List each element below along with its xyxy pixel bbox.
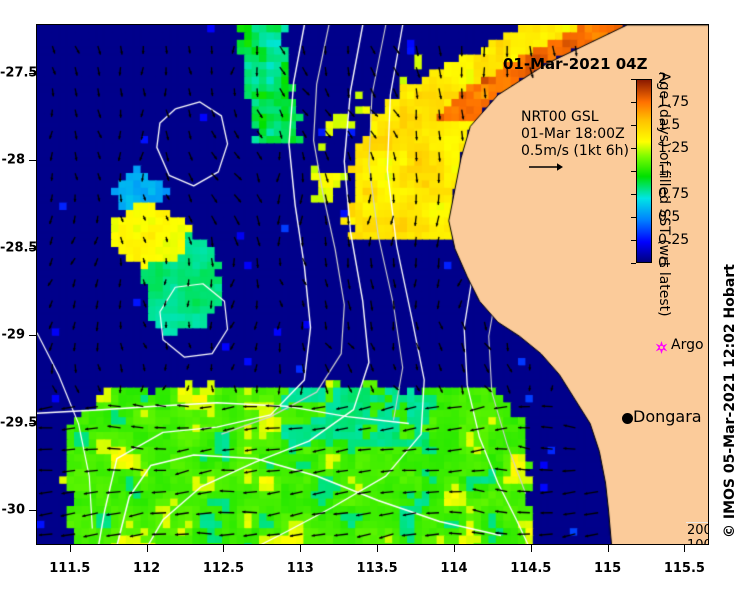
- x-tick: [147, 545, 148, 552]
- colorbar-tick: [631, 217, 636, 218]
- depth-200-label: 200m: [687, 523, 709, 538]
- credit-text: © IMOS 05-Mar-2021 12:02 Hobart: [722, 264, 738, 538]
- depth-1000-label: 1000m: [687, 538, 709, 545]
- x-axis-label: 113: [287, 561, 314, 576]
- x-tick: [70, 545, 71, 552]
- y-axis-label: -28: [0, 153, 25, 168]
- colorbar-tick: [631, 240, 636, 241]
- x-axis-label: 115.5: [664, 561, 705, 576]
- colorbar[interactable]: 21.751.51.2510.750.50.250: [636, 79, 652, 263]
- gsl-line3: 0.5m/s (1kt 6h): [521, 143, 629, 159]
- gsl-line2: 01-Mar 18:00Z: [521, 126, 625, 142]
- y-axis-label: -29.5: [0, 415, 25, 430]
- x-tick: [608, 545, 609, 552]
- x-tick: [300, 545, 301, 552]
- right-arrow-icon: [529, 161, 563, 173]
- y-axis-label: -29: [0, 328, 25, 343]
- y-tick: [29, 160, 36, 161]
- map-plot-area[interactable]: 01-Mar-2021 04Z NRT00 GSL01-Mar 18:00Z0.…: [36, 24, 709, 545]
- figure-root: 01-Mar-2021 04Z NRT00 GSL01-Mar 18:00Z0.…: [0, 0, 739, 592]
- x-axis-label: 115: [594, 561, 621, 576]
- colorbar-tick: [631, 148, 636, 149]
- y-axis-label: -28.5: [0, 240, 25, 255]
- x-axis-label: 112: [133, 561, 160, 576]
- x-axis-label: 113.5: [357, 561, 398, 576]
- x-axis-label: 111.5: [49, 561, 90, 576]
- gsl-line1: NRT00 GSL: [521, 109, 599, 125]
- colorbar-tick: [631, 263, 636, 264]
- argo-label: Argo: [671, 337, 704, 353]
- y-tick: [29, 335, 36, 336]
- argo-marker-icon: [655, 341, 668, 354]
- x-tick: [454, 545, 455, 552]
- current-vectors-layer: [37, 25, 709, 545]
- x-axis-label: 114.5: [510, 561, 551, 576]
- x-axis-label: 112.5: [203, 561, 244, 576]
- dongara-label: Dongara: [633, 407, 702, 426]
- y-tick: [29, 510, 36, 511]
- colorbar-gradient: [636, 79, 652, 263]
- colorbar-tick: [631, 194, 636, 195]
- colorbar-tick: [631, 125, 636, 126]
- x-tick: [684, 545, 685, 552]
- x-tick: [377, 545, 378, 552]
- gsl-annotation: NRT00 GSL01-Mar 18:00Z0.5m/s (1kt 6h): [521, 109, 629, 160]
- x-tick: [223, 545, 224, 552]
- colorbar-title: Age (days) of filled SST (wrt latest): [656, 72, 672, 317]
- y-axis-label: -27.5: [0, 65, 25, 80]
- colorbar-tick: [631, 102, 636, 103]
- bathymetry-scale-labels: 200m1000m: [687, 523, 709, 545]
- map-date-title: 01-Mar-2021 04Z: [503, 55, 648, 73]
- dongara-marker-icon: [622, 413, 633, 424]
- x-axis-label: 114: [440, 561, 467, 576]
- x-tick: [531, 545, 532, 552]
- colorbar-tick: [631, 79, 636, 80]
- y-axis-label: -30: [0, 503, 25, 518]
- colorbar-tick: [631, 171, 636, 172]
